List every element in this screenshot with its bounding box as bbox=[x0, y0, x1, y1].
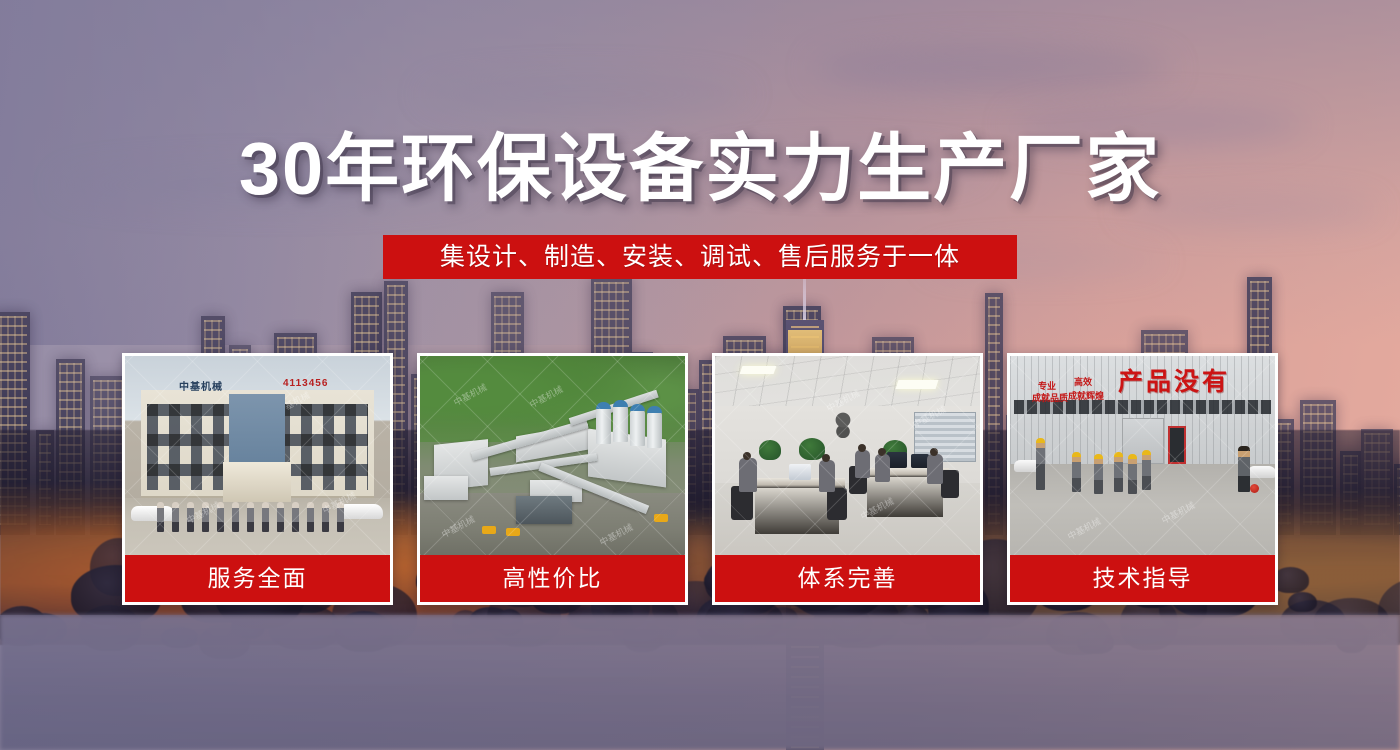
water-sheen bbox=[0, 615, 1400, 750]
factory-sign-text: 产品没有 bbox=[1118, 362, 1230, 398]
subtitle-text: 集设计、制造、安装、调试、售后服务于一体 bbox=[440, 245, 960, 270]
building-phone-text: 4113456 bbox=[283, 378, 328, 389]
feature-card-value[interactable]: 中基机械 中基机械 中基机械 中基机械 高性价比 bbox=[417, 353, 688, 605]
feature-card-row: 中基机械 4113456 中基机械 中基机械 中 bbox=[122, 353, 1278, 605]
factory-slogan-3: 高效 bbox=[1074, 378, 1092, 388]
card-caption-guidance: 技术指导 bbox=[1010, 555, 1275, 602]
photo-industrial-plant: 中基机械 中基机械 中基机械 中基机械 bbox=[420, 356, 685, 555]
factory-slogan-1: 专业 bbox=[1038, 382, 1056, 392]
card-caption-system: 体系完善 bbox=[715, 555, 980, 602]
building-sign-text: 中基机械 bbox=[179, 378, 223, 393]
subtitle-banner: 集设计、制造、安装、调试、售后服务于一体 bbox=[383, 235, 1017, 279]
card-caption-service: 服务全面 bbox=[125, 555, 390, 602]
feature-card-guidance[interactable]: 产品没有 专业 成就品质 高效 成就辉煌 中基机械 bbox=[1007, 353, 1278, 605]
feature-card-service[interactable]: 中基机械 4113456 中基机械 中基机械 中 bbox=[122, 353, 393, 605]
feature-card-system[interactable]: 中基机械 中基机械 中基机械 体系完善 bbox=[712, 353, 983, 605]
photo-factory-yard: 产品没有 专业 成就品质 高效 成就辉煌 中基机械 bbox=[1010, 356, 1275, 555]
cloud bbox=[812, 45, 1172, 91]
factory-slogan-4: 成就辉煌 bbox=[1068, 392, 1104, 402]
page-title: 30年环保设备实力生产厂家 bbox=[0, 132, 1400, 206]
photo-headquarters: 中基机械 4113456 中基机械 中基机械 中 bbox=[125, 356, 390, 555]
factory-slogan-2: 成就品质 bbox=[1032, 394, 1068, 404]
card-caption-value: 高性价比 bbox=[420, 555, 685, 602]
photo-office-interior: 中基机械 中基机械 中基机械 bbox=[715, 356, 980, 555]
cloud bbox=[420, 75, 750, 113]
hero-banner: 30年环保设备实力生产厂家 集设计、制造、安装、调试、售后服务于一体 中基机械 … bbox=[0, 0, 1400, 750]
tree bbox=[1288, 592, 1317, 612]
